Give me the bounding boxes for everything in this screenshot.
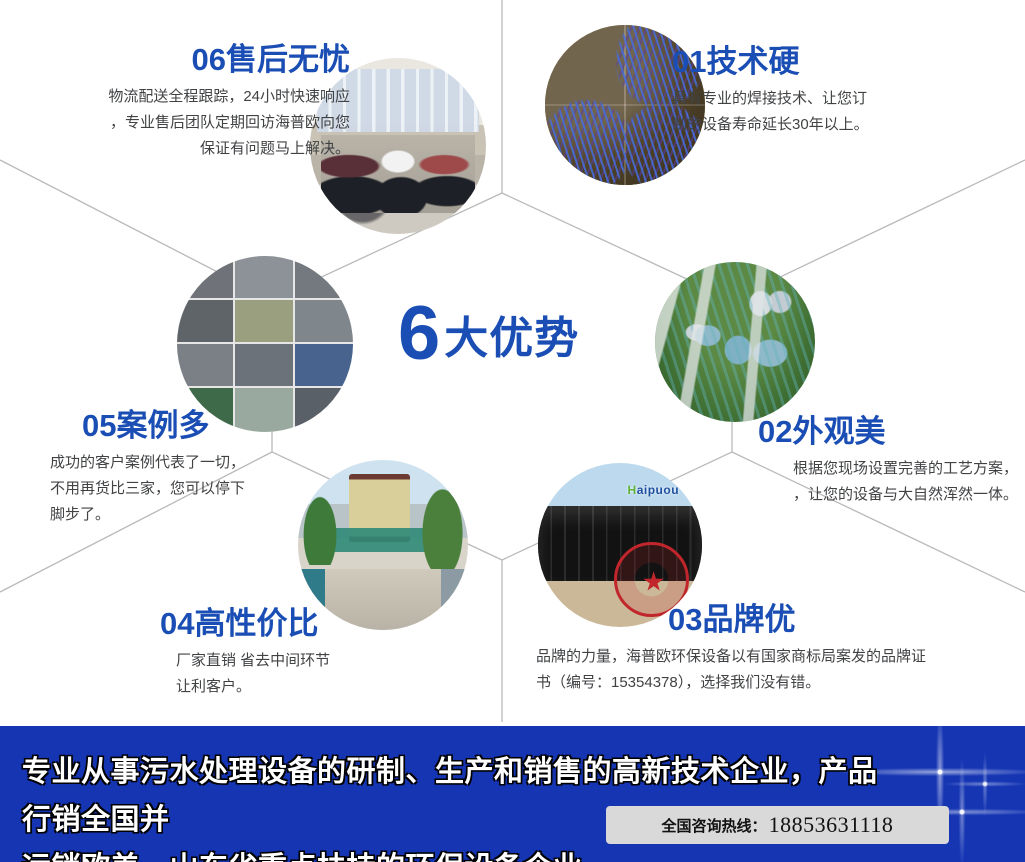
- advantage-05-body-line-1: 成功的客户案例代表了一切，: [50, 450, 340, 476]
- advantage-05-body-line-2: 不用再货比三家，您可以停下: [50, 476, 340, 502]
- advantage-06-heading: 06售后无忧: [20, 40, 350, 80]
- advantage-05: 05案例多 成功的客户案例代表了一切， 不用再货比三家，您可以停下 脚步了。: [40, 406, 340, 528]
- banner-line-2: 远销欧美，山东省重点扶持的环保设备企业。: [22, 844, 892, 862]
- advantage-06-body-line-1: 物流配送全程跟踪，24小时快速响应: [20, 84, 350, 110]
- center-suffix: 大优势: [444, 314, 579, 363]
- center-number: 6: [398, 291, 438, 376]
- gate-tree-right: [420, 484, 464, 569]
- advantage-03-body-line-1: 品牌的力量，海普欧环保设备以有国家商标局案发的品牌证: [536, 644, 1016, 670]
- advantage-02: 02外观美 根据您现场设置完善的工艺方案， ，让您的设备与大自然浑然一体。: [650, 412, 1018, 508]
- advantage-06-body-line-2: ，专业售后团队定期回访海普欧向您: [20, 110, 350, 136]
- advantage-02-body-line-1: 根据您现场设置完善的工艺方案，: [650, 456, 1018, 482]
- hotline-pill[interactable]: 全国咨询热线： 18853631118: [606, 806, 949, 844]
- infographic-page: Haipuou 6大优势 06售后无忧 物流配送全程跟踪，24小时快速响应 ，专…: [0, 0, 1025, 862]
- advantage-03-body: 品牌的力量，海普欧环保设备以有国家商标局案发的品牌证 书（编号：15354378…: [536, 644, 1016, 696]
- center-title: 6大优势: [398, 296, 579, 372]
- advantage-02-body-line-2: ，让您的设备与大自然浑然一体。: [650, 482, 1018, 508]
- banner-text: 专业从事污水处理设备的研制、生产和销售的高新技术企业，产品行销全国并 远销欧美，…: [22, 748, 892, 862]
- advantage-05-body-line-3: 脚步了。: [50, 502, 340, 528]
- advantage-01-body-line-1: 具有专业的焊接技术、让您订: [672, 86, 1012, 112]
- trademark-star-icon: [643, 571, 664, 592]
- advantage-06: 06售后无忧 物流配送全程跟踪，24小时快速响应 ，专业售后团队定期回访海普欧向…: [20, 40, 350, 162]
- advantage-04-heading: 04高性价比: [160, 604, 490, 644]
- advantage-06-body: 物流配送全程跟踪，24小时快速响应 ，专业售后团队定期回访海普欧向您 保证有问题…: [20, 84, 350, 162]
- advantage-03-heading: 03品牌优: [536, 600, 1016, 640]
- advantage-02-body: 根据您现场设置完善的工艺方案， ，让您的设备与大自然浑然一体。: [650, 456, 1018, 508]
- advantage-03-body-line-2: 书（编号：15354378），选择我们没有错。: [536, 670, 1016, 696]
- advantage-01-body-line-2: 制的设备寿命延长30年以上。: [672, 112, 1012, 138]
- advantage-04-body-line-2: 让利客户。: [176, 674, 490, 700]
- hotline-label: 全国咨询热线：: [662, 815, 767, 836]
- advantage-06-body-line-3: 保证有问题马上解决。: [20, 136, 350, 162]
- aerial-treatment-plant-photo: [655, 262, 815, 422]
- advantage-05-heading: 05案例多: [40, 406, 340, 446]
- advantage-02-heading: 02外观美: [650, 412, 1018, 452]
- advantage-01: 01技术硬 具有专业的焊接技术、让您订 制的设备寿命延长30年以上。: [672, 42, 1012, 138]
- hotline-number: 18853631118: [769, 812, 894, 838]
- advantage-01-heading: 01技术硬: [672, 42, 1012, 82]
- advantage-04-body: 厂家直销 省去中间环节 让利客户。: [160, 648, 490, 700]
- advantage-05-body: 成功的客户案例代表了一切， 不用再货比三家，您可以停下 脚步了。: [40, 450, 340, 528]
- advantage-03: 03品牌优 品牌的力量，海普欧环保设备以有国家商标局案发的品牌证 书（编号：15…: [536, 600, 1016, 696]
- advantage-04: 04高性价比 厂家直销 省去中间环节 让利客户。: [160, 604, 490, 700]
- advantage-01-body: 具有专业的焊接技术、让您订 制的设备寿命延长30年以上。: [672, 86, 1012, 138]
- advantage-04-body-line-1: 厂家直销 省去中间环节: [176, 648, 490, 674]
